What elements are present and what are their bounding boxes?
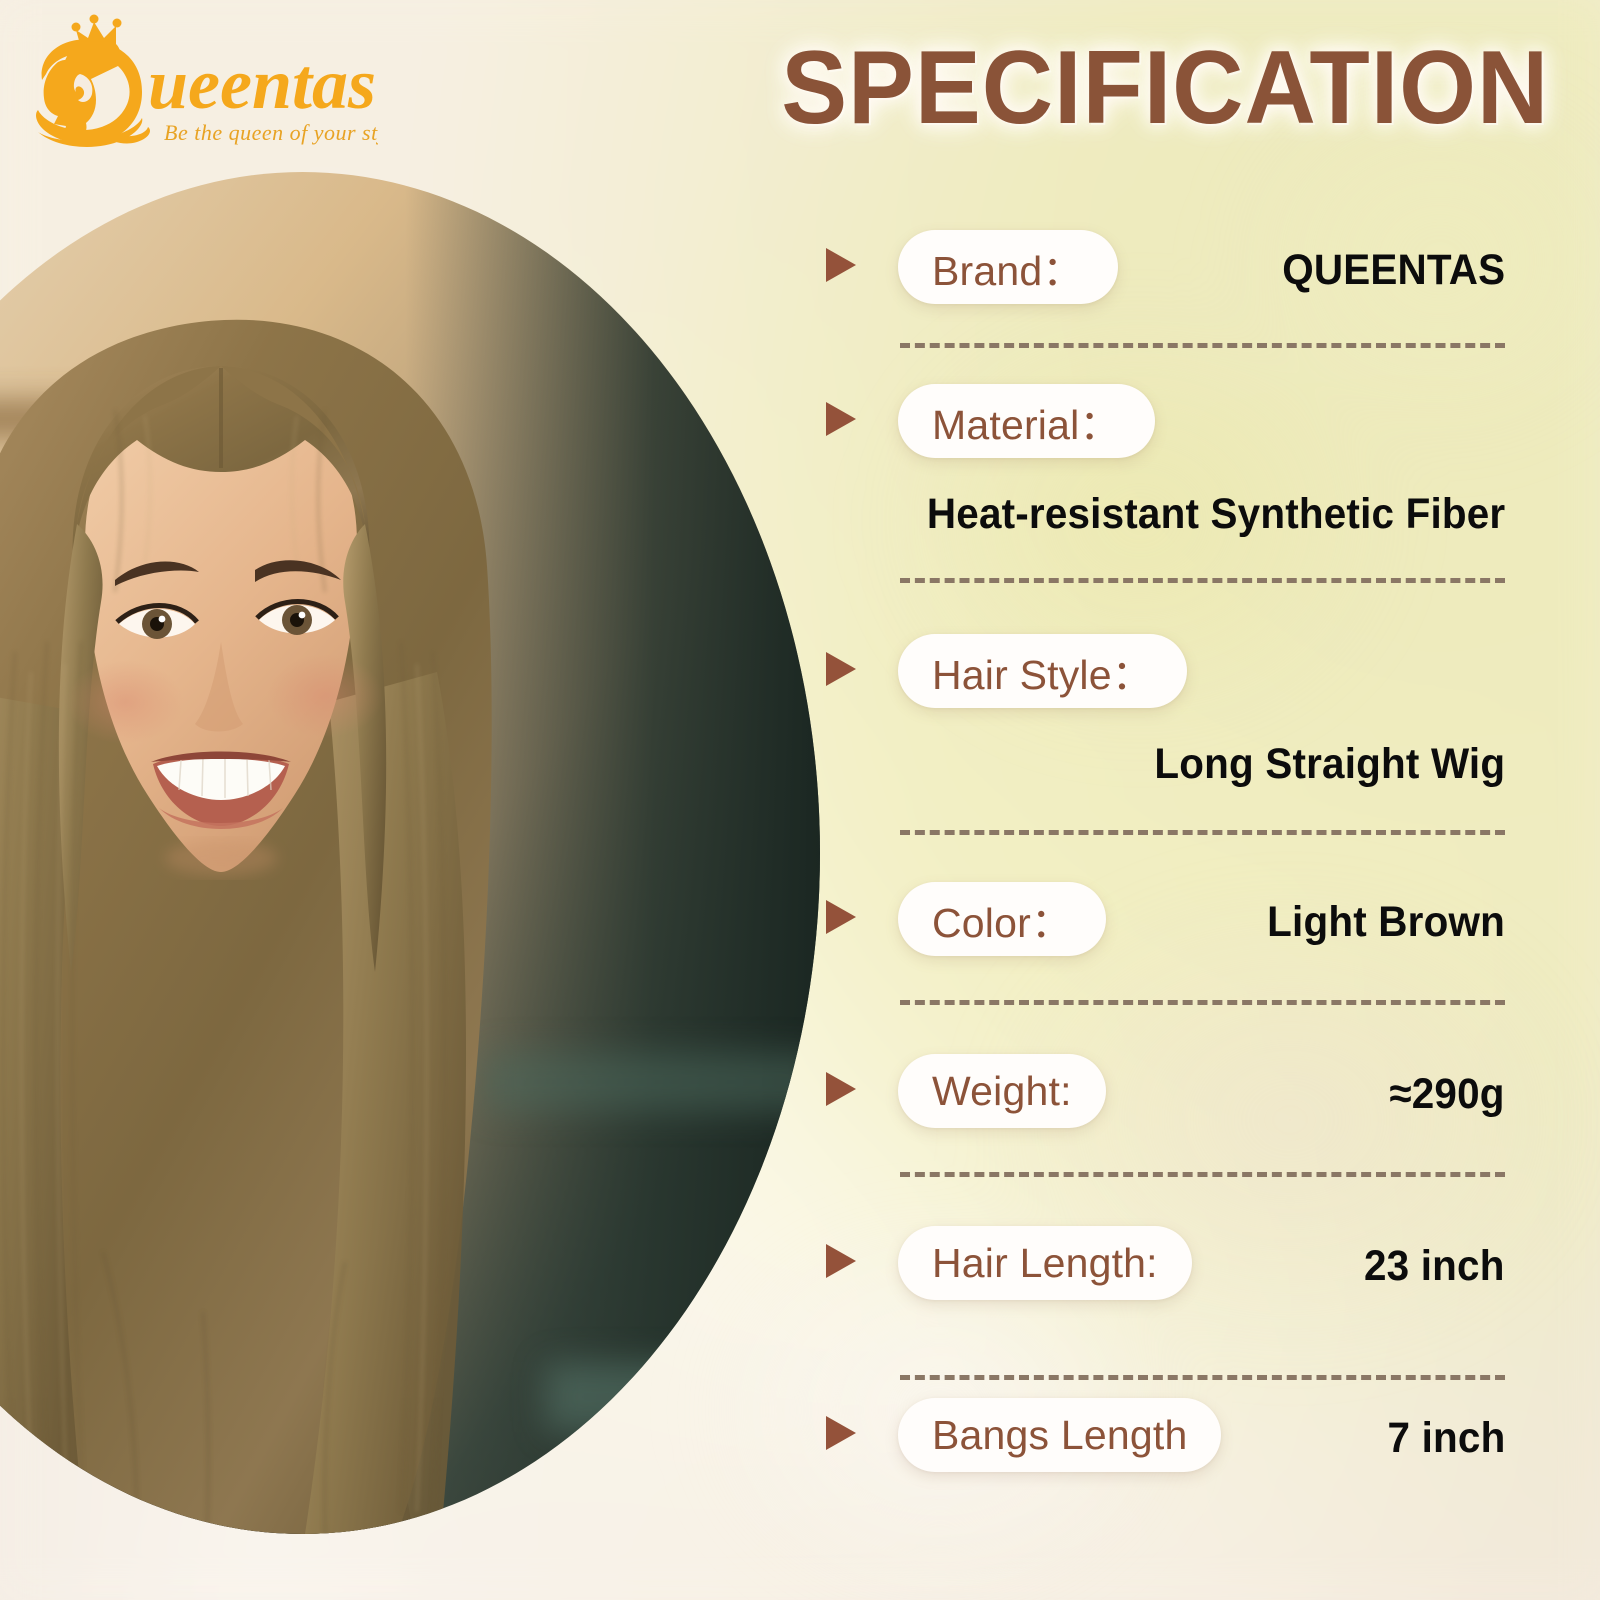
- spec-divider: [900, 1172, 1505, 1177]
- spec-value-text: ≈290g: [1390, 1070, 1505, 1119]
- spec-divider: [900, 830, 1505, 835]
- specification-list: Brand： QUEENTAS Material： Heat-resistant…: [820, 196, 1520, 1526]
- spec-row-material: Material： Heat-resistant Synthetic Fiber: [820, 378, 1520, 464]
- triangle-right-icon: [826, 1416, 856, 1450]
- spec-divider: [900, 578, 1505, 583]
- spec-row-bangs-length: Bangs Length 7 inch: [820, 1392, 1520, 1478]
- spec-value-text: 7 inch: [1387, 1414, 1505, 1463]
- spec-row-color: Color： Light Brown: [820, 876, 1520, 962]
- spec-divider: [900, 343, 1505, 348]
- spec-row-hair-length: Hair Length: 23 inch: [820, 1220, 1520, 1306]
- spec-label-text: Brand：: [932, 237, 1084, 297]
- spec-label-pill: Hair Style：: [898, 634, 1187, 708]
- spec-value-text: Heat-resistant Synthetic Fiber: [927, 490, 1505, 539]
- logo-tagline: Be the queen of your style: [164, 120, 378, 145]
- queentas-logo-svg: ueentas Be the queen of your style: [18, 14, 378, 154]
- spec-label-pill: Material：: [898, 384, 1155, 458]
- queen-profile-crown-icon: [36, 15, 150, 147]
- spec-row-weight: Weight: ≈290g: [820, 1048, 1520, 1134]
- spec-label-text: Material：: [932, 391, 1121, 451]
- brand-logo: ueentas Be the queen of your style: [18, 14, 378, 154]
- spec-label-text: Hair Style：: [932, 641, 1153, 701]
- page-title: SPECIFICATION: [740, 28, 1590, 148]
- triangle-right-icon: [826, 1072, 856, 1106]
- spec-divider: [900, 1375, 1505, 1380]
- spec-label-text: Weight:: [932, 1068, 1072, 1115]
- page-title-text: SPECIFICATION: [781, 29, 1549, 148]
- spec-value-text: Light Brown: [1267, 898, 1505, 947]
- spec-label-pill: Weight:: [898, 1054, 1106, 1128]
- spec-label-pill: Color：: [898, 882, 1106, 956]
- spec-label-text: Bangs Length: [932, 1412, 1187, 1459]
- product-photo: [0, 172, 820, 1534]
- model-portrait-illustration: [0, 172, 820, 1534]
- spec-label-pill: Hair Length:: [898, 1226, 1192, 1300]
- spec-value-text: Long Straight Wig: [1154, 740, 1505, 789]
- triangle-right-icon: [826, 248, 856, 282]
- spec-label-pill: Bangs Length: [898, 1398, 1221, 1472]
- triangle-right-icon: [826, 652, 856, 686]
- spec-value-text: 23 inch: [1364, 1242, 1505, 1291]
- triangle-right-icon: [826, 1244, 856, 1278]
- spec-row-brand: Brand： QUEENTAS: [820, 224, 1520, 310]
- spec-label-text: Color：: [932, 889, 1072, 949]
- spec-value-text: QUEENTAS: [1282, 246, 1505, 295]
- triangle-right-icon: [826, 402, 856, 436]
- logo-wordmark: ueentas: [148, 44, 376, 124]
- triangle-right-icon: [826, 900, 856, 934]
- spec-row-hair-style: Hair Style： Long Straight Wig: [820, 628, 1520, 714]
- spec-label-text: Hair Length:: [932, 1240, 1158, 1287]
- spec-divider: [900, 1000, 1505, 1005]
- spec-label-pill: Brand：: [898, 230, 1118, 304]
